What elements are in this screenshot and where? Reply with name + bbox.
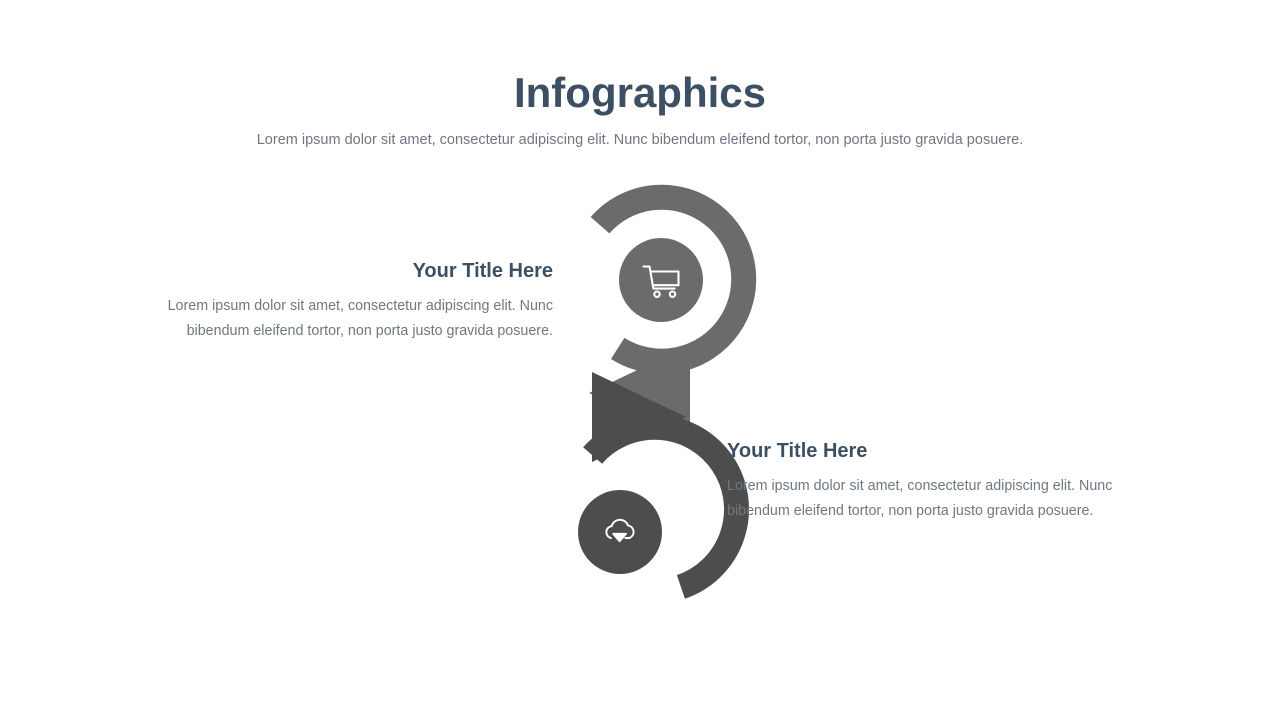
step-2-icon-group[interactable] [578, 490, 662, 574]
step-1-text-block: Your Title Here Lorem ipsum dolor sit am… [153, 258, 553, 344]
step-2-icon-disc[interactable] [578, 490, 662, 574]
step-1-icon-group[interactable] [619, 238, 703, 322]
step-2-text-block: Your Title Here Lorem ipsum dolor sit am… [727, 438, 1117, 524]
page-subtitle: Lorem ipsum dolor sit amet, consectetur … [0, 130, 1280, 150]
arc-bottom-arrowhead [592, 372, 686, 462]
header: Infographics Lorem ipsum dolor sit amet,… [0, 68, 1280, 150]
step-2-body: Lorem ipsum dolor sit amet, consectetur … [727, 474, 1117, 524]
step-1-body: Lorem ipsum dolor sit amet, consectetur … [153, 294, 553, 344]
cloud-download-icon [606, 520, 633, 541]
step-1-title: Your Title Here [153, 258, 553, 284]
shopping-cart-icon [644, 267, 679, 297]
step-2-title: Your Title Here [727, 438, 1117, 464]
page-title: Infographics [0, 68, 1280, 118]
step-1-icon-disc[interactable] [619, 238, 703, 322]
arc-top-arrowhead [589, 345, 690, 443]
arc-bottom-group [592, 372, 737, 587]
arc-bottom-ring [593, 427, 737, 587]
slide-canvas: Infographics Lorem ipsum dolor sit amet,… [0, 0, 1280, 720]
arc-top-group [589, 197, 744, 443]
arc-top-ring [600, 197, 744, 361]
